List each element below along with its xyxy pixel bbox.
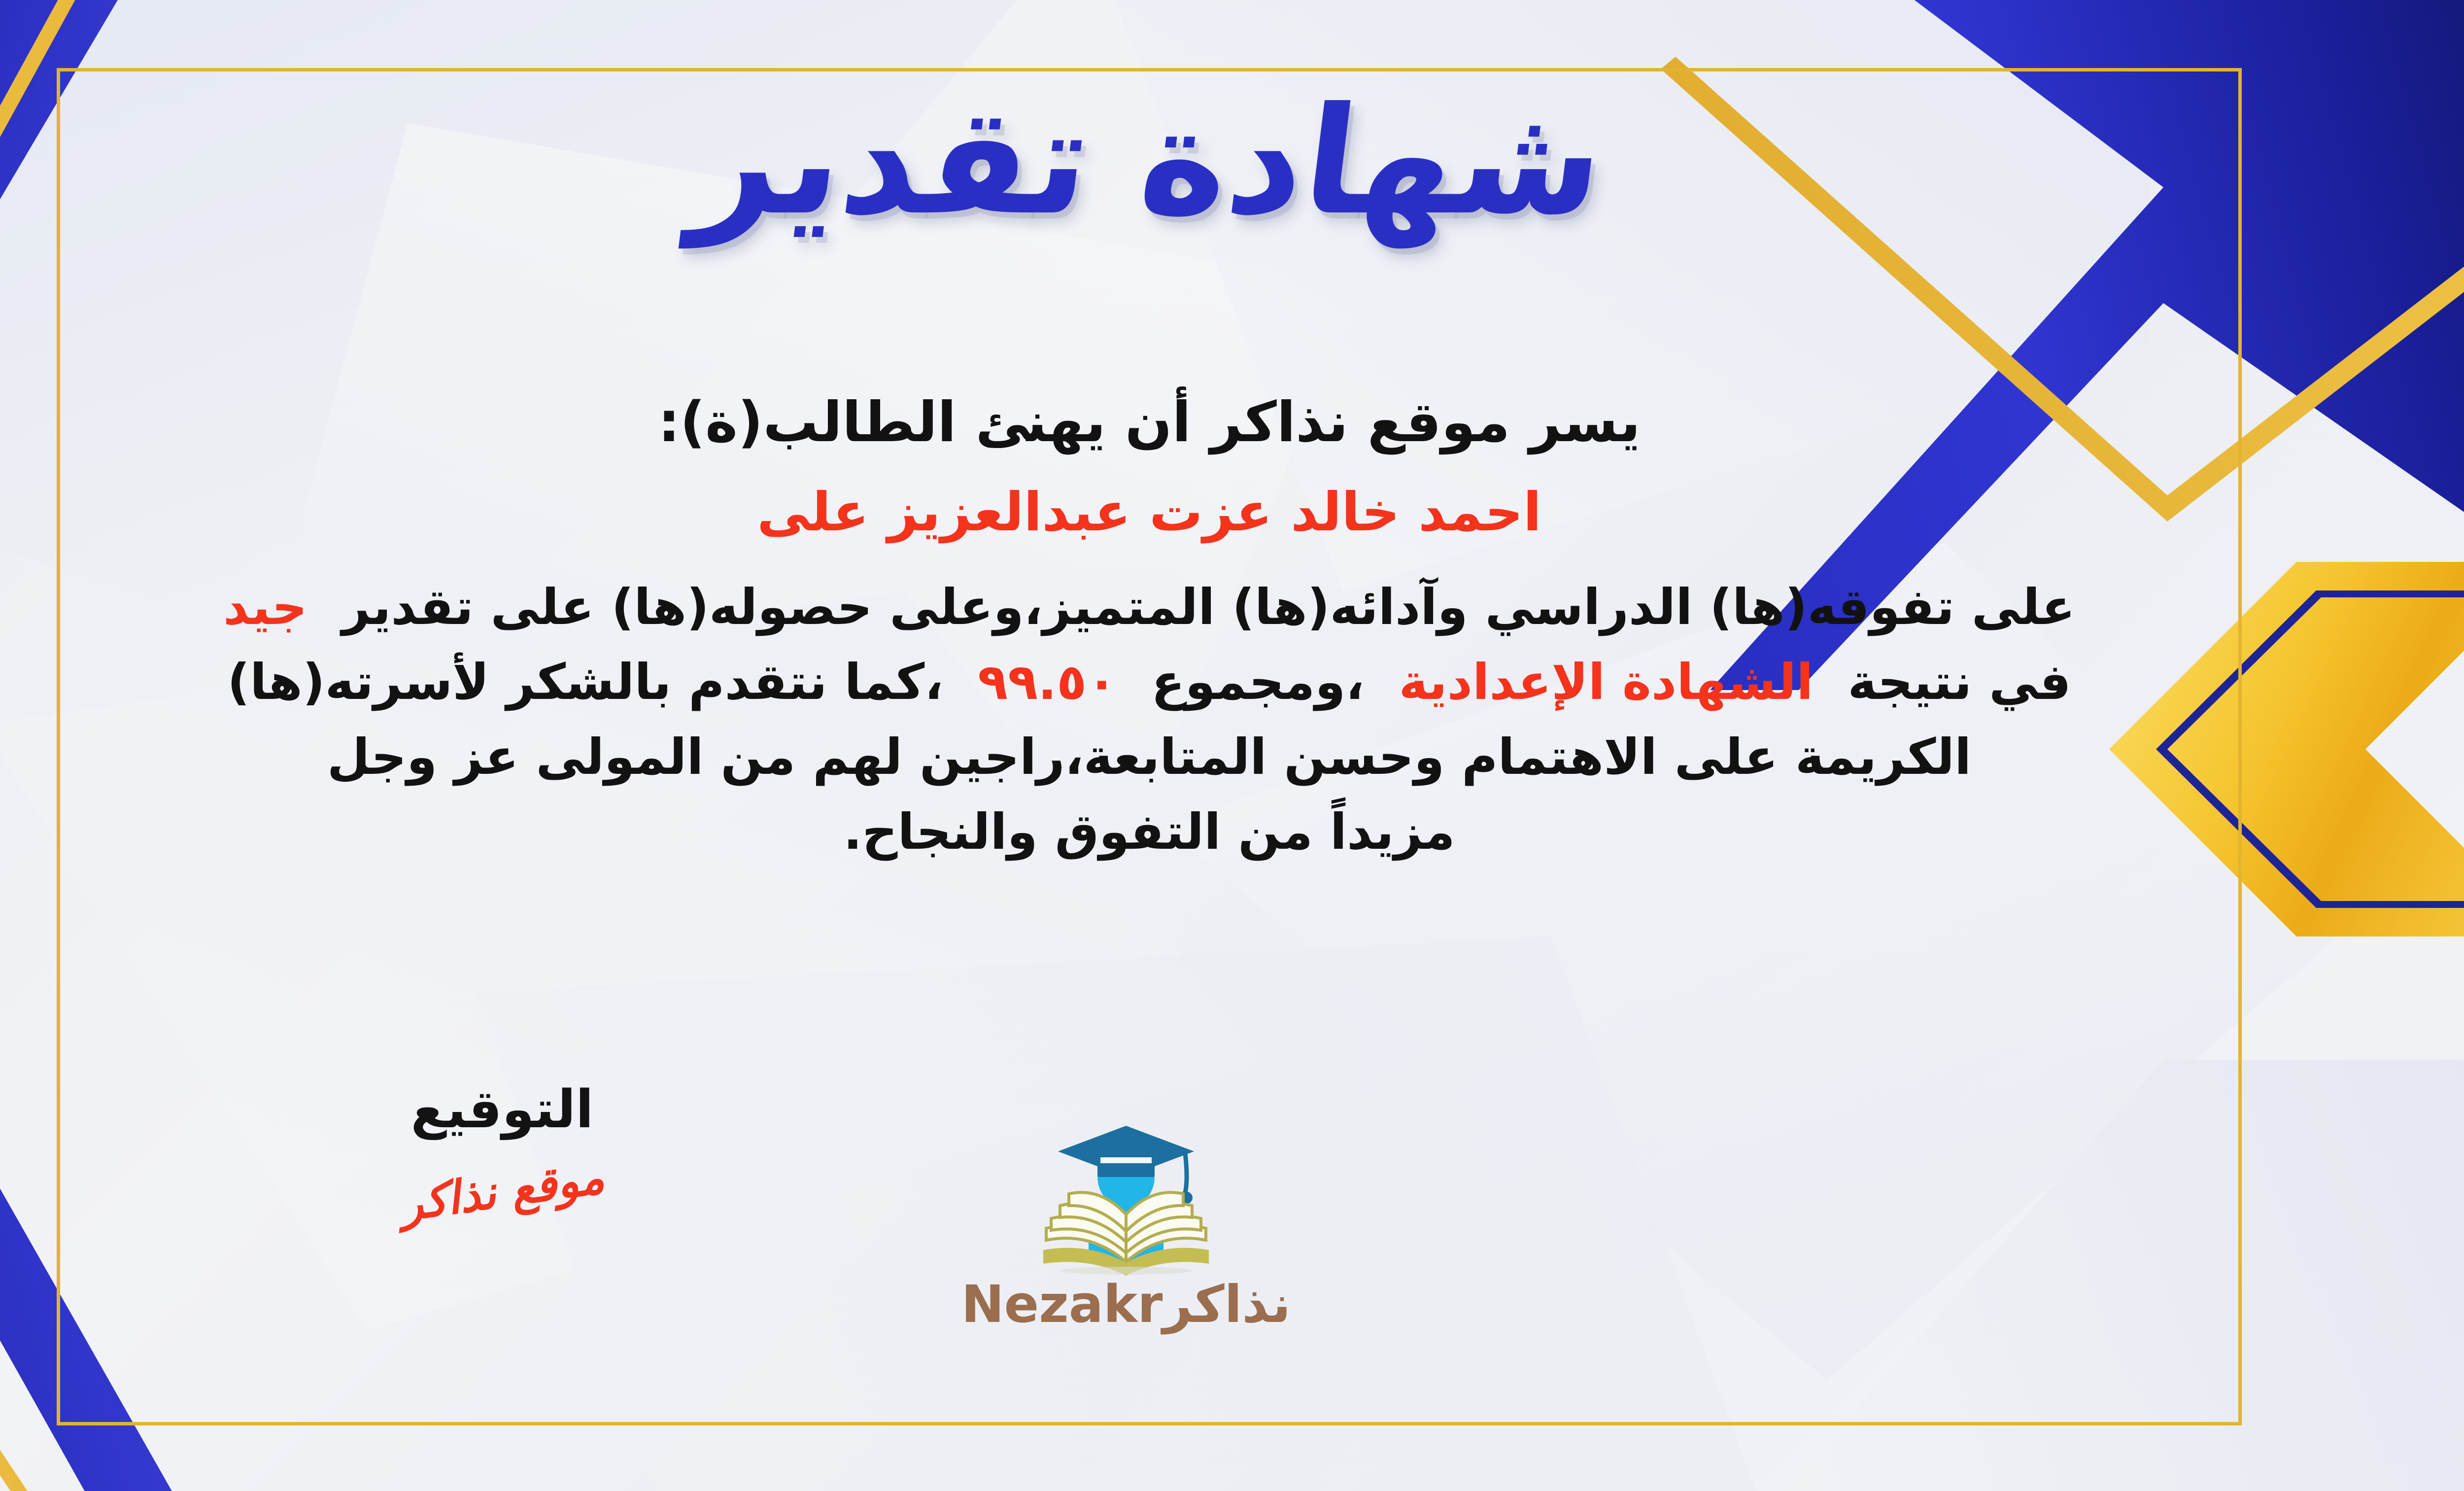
thanks-text: ،كما نتقدم بالشكر لأسرته(ها)	[227, 653, 943, 711]
certificate-body: يسر موقع نذاكر أن يهنئ الطالب(ة): احمد خ…	[57, 383, 2242, 869]
certificate-title: شهادة تقدير	[48, 88, 2251, 236]
paragraph-line-3: على تفوقه(ها) الدراسي وآدائه(ها) المتميز…	[57, 570, 2242, 645]
achievement-text: على تفوقه(ها) الدراسي وآدائه(ها) المتميز…	[342, 578, 2075, 636]
nezakr-logo: نذاكرNezakr	[958, 1108, 1294, 1330]
logo-wordmark: نذاكرNezakr	[958, 1279, 1294, 1330]
certificate-content: شهادة تقدير يسر موقع نذاكر أن يهنئ الطال…	[57, 68, 2242, 1425]
grade-value: جيد	[223, 578, 308, 636]
exam-name: الشهادة الإعدادية	[1399, 653, 1813, 711]
logo-wordmark-arabic: نذاكر	[1163, 1274, 1291, 1334]
student-name: احمد خالد عزت عبدالعزيز على	[57, 475, 2242, 550]
logo-wordmark-latin: Nezakr	[961, 1274, 1163, 1334]
paragraph-line-6: مزيداً من التفوق والنجاح.	[57, 795, 2242, 869]
signature-label: التوقيع	[330, 1083, 675, 1136]
signature-area: التوقيع موقع نذاكر	[330, 1083, 675, 1214]
certificate-canvas: شهادة تقدير يسر موقع نذاكر أن يهنئ الطال…	[0, 0, 2464, 1491]
paragraph-line-4: في نتيجةالشهادة الإعدادية،ومجموع٩٩.٥٠،كم…	[57, 645, 2242, 720]
signature-mark: موقع نذاكر	[398, 1154, 607, 1228]
paragraph-line-5: الكريمة على الاهتمام وحسن المتابعة،راجين…	[57, 720, 2242, 795]
greeting-line: يسر موقع نذاكر أن يهنئ الطالب(ة):	[57, 383, 2242, 462]
result-label: في نتيجة	[1848, 653, 2071, 711]
total-label: ،ومجموع	[1151, 653, 1364, 711]
total-score: ٩٩.٥٠	[978, 653, 1117, 711]
graduate-book-icon	[1023, 1108, 1230, 1276]
